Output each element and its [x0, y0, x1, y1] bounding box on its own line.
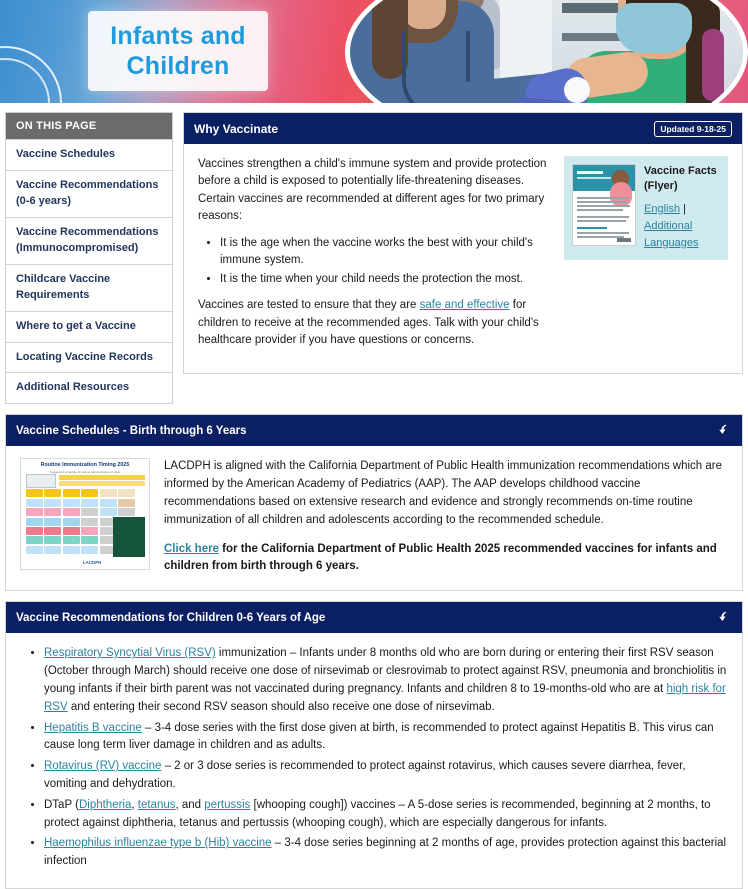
flyer-thumb-text-line: [577, 205, 630, 207]
flyer-thumb-text-line: [577, 216, 629, 218]
flyer-thumb-text-line: [577, 232, 629, 234]
immunization-thumb-band-2: [59, 481, 145, 486]
top-content-row: ON THIS PAGE Vaccine Schedules Vaccine R…: [0, 103, 748, 404]
flyer-thumb-text-line: [577, 201, 627, 203]
photo-cotton-ball: [564, 77, 590, 103]
diphtheria-link[interactable]: Diphtheria: [79, 799, 131, 811]
click-here-link[interactable]: Click here: [164, 543, 219, 555]
vaccine-schedules-title: Vaccine Schedules - Birth through 6 Year…: [16, 425, 247, 437]
banner-title-card: Infants and Children: [88, 11, 268, 91]
vaccine-schedules-text: LACDPH is aligned with the California De…: [164, 458, 728, 576]
cta-rest-text: for the California Department of Public …: [164, 543, 717, 573]
vaccine-schedules-content: Routine Immunization Timing 2025 Suggest…: [20, 458, 728, 576]
list-item: Hepatitis B vaccine – 3-4 dose series wi…: [44, 720, 728, 756]
back-to-top-arrow-icon[interactable]: [716, 610, 732, 626]
flyer-english-link[interactable]: English: [644, 203, 680, 215]
flyer-thumb-text-line: [577, 220, 626, 222]
flyer-additional-languages-link[interactable]: Additional Languages: [644, 220, 698, 249]
vaccine-schedules-header: Vaccine Schedules - Birth through 6 Year…: [6, 415, 742, 446]
page-banner: Infants and Children: [0, 0, 748, 103]
flyer-link-separator: |: [683, 203, 686, 215]
photo-child-hair-pink-streak: [702, 29, 724, 101]
vaccine-schedules-section: Vaccine Schedules - Birth through 6 Year…: [5, 414, 743, 591]
why-vaccinate-body: Vaccines strengthen a child's immune sys…: [184, 144, 742, 373]
why-vaccinate-text: Vaccines strengthen a child's immune sys…: [198, 156, 552, 359]
hepatitis-b-text: – 3-4 dose series with the first dose gi…: [44, 722, 714, 752]
immunization-thumb-logo: LACDPH: [83, 560, 101, 565]
vaccine-recommendations-section: Vaccine Recommendations for Children 0-6…: [5, 601, 743, 889]
back-to-top-arrow-icon[interactable]: [716, 423, 732, 439]
why-vaccinate-reason-1: It is the age when the vaccine works the…: [220, 235, 552, 270]
immunization-thumb-title: Routine Immunization Timing 2025: [21, 462, 149, 468]
flyer-thumb-text-line: [577, 197, 629, 199]
why-vaccinate-panel: Why Vaccinate Updated 9-18-25 Vaccines s…: [183, 112, 743, 374]
why-vaccinate-paragraph-2: Vaccines are tested to ensure that they …: [198, 297, 552, 349]
sidebar-item-locating-vaccine-records[interactable]: Locating Vaccine Records: [6, 342, 172, 373]
flyer-thumb-subtitle-bar: [577, 177, 611, 179]
sidebar-item-vaccine-schedules[interactable]: Vaccine Schedules: [6, 139, 172, 170]
dtap-mid-2: , and: [176, 799, 205, 811]
flyer-title: Vaccine Facts (Flyer): [644, 164, 720, 194]
rsv-text-b: and entering their second RSV season sho…: [68, 701, 495, 713]
vaccine-recommendations-title: Vaccine Recommendations for Children 0-6…: [16, 612, 325, 624]
banner-title-line-2: Children: [127, 51, 230, 82]
sidebar-header: ON THIS PAGE: [6, 113, 172, 139]
safe-and-effective-link[interactable]: safe and effective: [420, 299, 510, 311]
vaccine-schedules-cta: Click here for the California Department…: [164, 541, 728, 577]
list-item: DTaP (Diphtheria, tetanus, and pertussis…: [44, 797, 728, 833]
rotavirus-vaccine-link[interactable]: Rotavirus (RV) vaccine: [44, 760, 161, 772]
on-this-page-sidebar: ON THIS PAGE Vaccine Schedules Vaccine R…: [5, 112, 173, 404]
why-vaccinate-header: Why Vaccinate Updated 9-18-25: [184, 113, 742, 144]
flyer-details: Vaccine Facts (Flyer) English | Addition…: [644, 164, 720, 252]
pertussis-link[interactable]: pertussis: [204, 799, 250, 811]
vaccine-recommendations-header: Vaccine Recommendations for Children 0-6…: [6, 602, 742, 633]
immunization-thumb-green-panel: [113, 517, 145, 557]
flyer-thumb-text-line: [577, 209, 623, 211]
banner-title-line-1: Infants and: [110, 21, 246, 52]
flyer-thumb-title-bar: [577, 171, 603, 174]
dtap-prefix: DTaP (: [44, 799, 79, 811]
sidebar-item-vaccine-recommendations-immunocompromised[interactable]: Vaccine Recommendations (Immunocompromis…: [6, 217, 172, 264]
photo-child-face-mask: [616, 3, 692, 53]
hepatitis-b-vaccine-link[interactable]: Hepatitis B vaccine: [44, 722, 142, 734]
rsv-link[interactable]: Respiratory Syncytial Virus (RSV): [44, 647, 216, 659]
immunization-timing-thumbnail[interactable]: Routine Immunization Timing 2025 Suggest…: [20, 458, 150, 570]
flyer-thumbnail-image[interactable]: [572, 164, 636, 246]
sidebar-item-additional-resources[interactable]: Additional Resources: [6, 372, 172, 403]
why-vaccinate-title: Why Vaccinate: [194, 122, 278, 136]
why-vaccinate-reasons-list: It is the age when the vaccine works the…: [198, 235, 552, 288]
banner-photo: [345, 0, 748, 103]
updated-badge: Updated 9-18-25: [654, 121, 732, 137]
sidebar-item-vaccine-recommendations-0-6[interactable]: Vaccine Recommendations (0-6 years): [6, 170, 172, 217]
flyer-thumb-logo: [617, 238, 631, 242]
immunization-thumb-band-1: [59, 475, 145, 480]
banner-photo-container: [345, 0, 748, 103]
vaccine-schedules-body: Routine Immunization Timing 2025 Suggest…: [6, 446, 742, 590]
sidebar-item-childcare-vaccine-requirements[interactable]: Childcare Vaccine Requirements: [6, 264, 172, 311]
paragraph-2-text-before: Vaccines are tested to ensure that they …: [198, 299, 420, 311]
vaccine-facts-flyer-card: Vaccine Facts (Flyer) English | Addition…: [564, 156, 728, 260]
sidebar-item-where-to-get-a-vaccine[interactable]: Where to get a Vaccine: [6, 311, 172, 342]
flyer-language-links: English | Additional Languages: [644, 201, 720, 252]
vaccine-recommendations-list: Respiratory Syncytial Virus (RSV) immuni…: [20, 645, 728, 871]
tetanus-link[interactable]: tetanus: [138, 799, 176, 811]
immunization-thumb-birth-block: [26, 474, 56, 488]
vaccine-recommendations-body: Respiratory Syncytial Virus (RSV) immuni…: [6, 633, 742, 888]
list-item: Haemophilus influenzae type b (Hib) vacc…: [44, 835, 728, 871]
hib-vaccine-link[interactable]: Haemophilus influenzae type b (Hib) vacc…: [44, 837, 272, 849]
why-vaccinate-paragraph-1: Vaccines strengthen a child's immune sys…: [198, 156, 552, 226]
why-vaccinate-reason-2: It is the time when your child needs the…: [220, 271, 552, 288]
list-item: Respiratory Syncytial Virus (RSV) immuni…: [44, 645, 728, 716]
flyer-thumb-section-heading: [577, 227, 607, 229]
vaccine-schedules-paragraph: LACDPH is aligned with the California De…: [164, 458, 728, 529]
list-item: Rotavirus (RV) vaccine – 2 or 3 dose ser…: [44, 758, 728, 794]
